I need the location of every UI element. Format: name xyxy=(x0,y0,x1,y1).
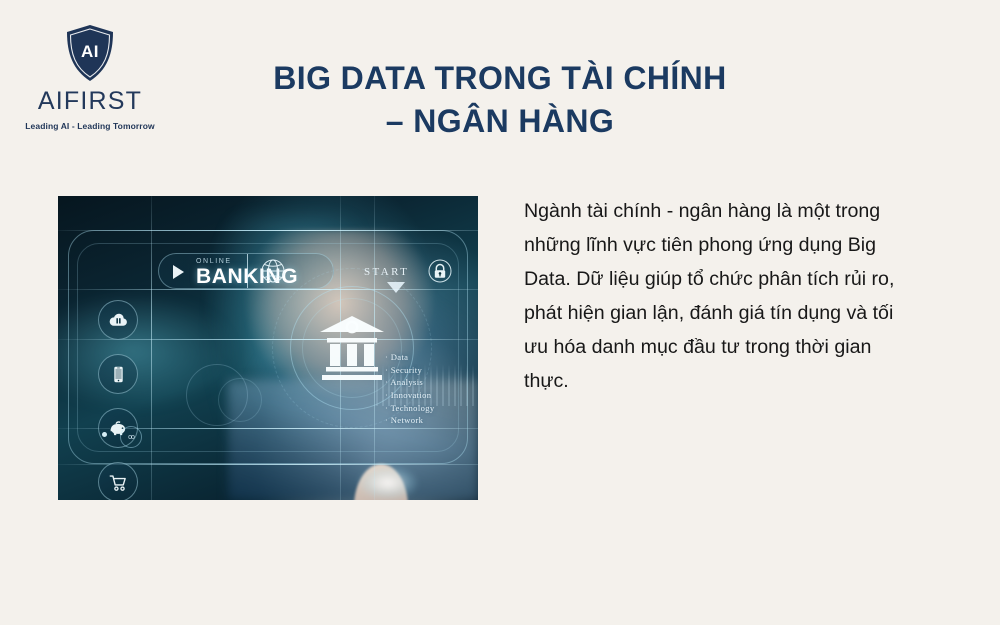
keyword-list: Data Security Analysis Innovation Techno… xyxy=(385,351,435,427)
shield-icon: AI xyxy=(65,24,115,82)
bank-building-icon xyxy=(314,314,390,384)
keyword-item: Data xyxy=(385,351,435,364)
page-title: BIG DATA TRONG TÀI CHÍNH – NGÂN HÀNG xyxy=(180,57,820,143)
smartphone-icon[interactable] xyxy=(98,354,138,394)
hud-hline-2 xyxy=(58,289,478,290)
page-title-line-2: – NGÂN HÀNG xyxy=(180,100,820,143)
svg-text:AI: AI xyxy=(81,42,99,61)
banking-hero-image: ONLINE BANKING START xyxy=(58,196,478,500)
eyes-badge-icon: oo xyxy=(120,426,142,448)
shopping-cart-icon[interactable] xyxy=(98,462,138,500)
keyword-item: Innovation xyxy=(385,389,435,402)
gear-ring-inner xyxy=(218,378,262,422)
globe-icon[interactable] xyxy=(258,256,288,286)
keyword-item: Analysis xyxy=(385,376,435,389)
service-icon-column xyxy=(98,300,144,500)
node-dot xyxy=(102,432,107,437)
page-title-line-1: BIG DATA TRONG TÀI CHÍNH xyxy=(180,57,820,100)
hud-vline-1 xyxy=(151,196,152,500)
fingertip-glow xyxy=(358,466,418,500)
hud-hline-1 xyxy=(58,230,478,231)
logo-tagline: Leading AI - Leading Tomorrow xyxy=(25,121,154,131)
lock-icon[interactable] xyxy=(425,256,455,286)
play-icon[interactable] xyxy=(173,265,184,279)
keyword-item: Security xyxy=(385,364,435,377)
logo-wordmark: AIFIRST xyxy=(38,87,142,116)
cloud-server-icon[interactable] xyxy=(98,300,138,340)
brand-logo: AI AIFIRST Leading AI - Leading Tomorrow xyxy=(22,24,158,132)
keyword-item: Network xyxy=(385,414,435,427)
panel-divider xyxy=(247,254,248,288)
body-paragraph: Ngành tài chính - ngân hàng là một trong… xyxy=(524,194,904,398)
keyword-item: Technology xyxy=(385,402,435,415)
